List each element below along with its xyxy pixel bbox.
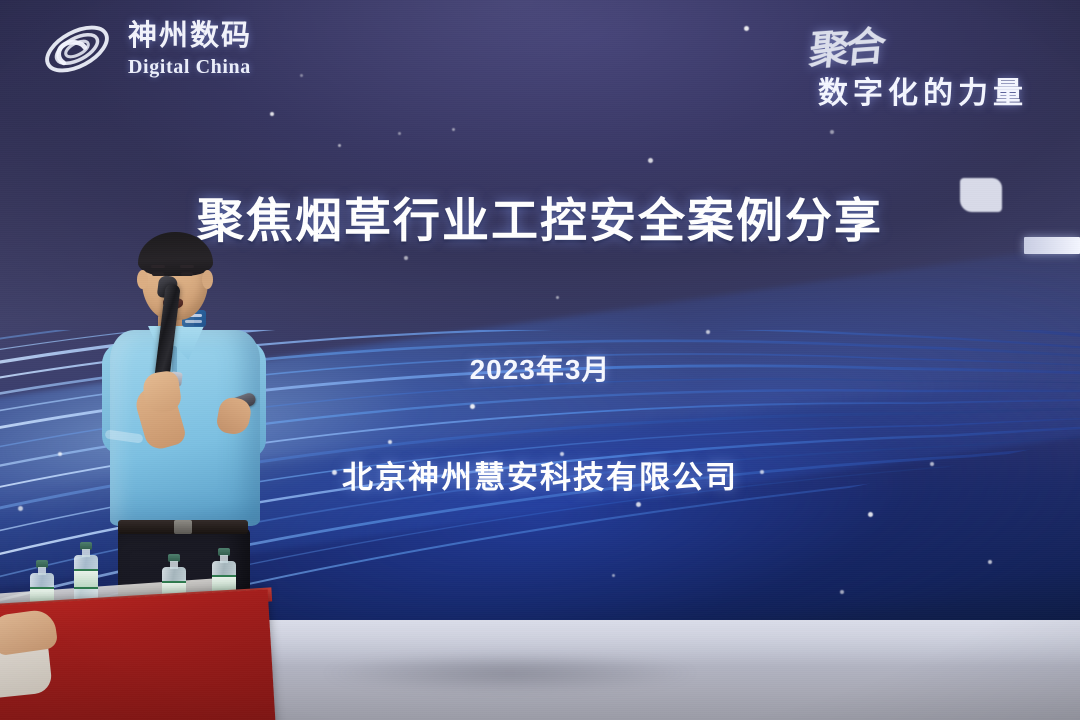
- speaker-belt-buckle: [174, 520, 192, 534]
- logo-chinese-name: 神州数码: [128, 22, 252, 51]
- particle-dot: [452, 128, 455, 131]
- water-bottle: [74, 542, 98, 604]
- speaker-eyebrow-right: [180, 265, 194, 268]
- particle-dot: [300, 74, 303, 77]
- particle-dot: [556, 296, 559, 299]
- speaker-hair: [138, 232, 213, 276]
- speaker-ear-left: [137, 270, 148, 289]
- speaker-ear-right: [202, 270, 213, 289]
- particle-dot: [830, 130, 834, 134]
- logo-english-name: Digital China: [128, 57, 252, 77]
- floor-shadow: [250, 650, 770, 696]
- particle-dot: [270, 112, 274, 116]
- particle-dot: [744, 26, 749, 31]
- speaker-eye-right: [181, 272, 193, 276]
- particle-dot: [404, 256, 408, 260]
- particle-dot: [398, 132, 401, 135]
- digital-china-logo: 神州数码 Digital China: [38, 18, 252, 80]
- brush-calligraphy-mark: 聚合: [807, 14, 885, 77]
- speaker-eyebrow-left: [151, 265, 165, 268]
- digital-china-wordmark: 神州数码 Digital China: [128, 22, 252, 77]
- conference-photo: 神州数码 Digital China 聚合 数字化的力量 聚焦烟草行业工控安全案…: [0, 0, 1080, 720]
- particle-dot: [648, 158, 653, 163]
- event-brand-logo: 聚合 数字化的力量: [788, 16, 1056, 112]
- brand-subtitle: 数字化的力量: [818, 68, 1028, 112]
- digital-china-swirl-icon: [38, 18, 116, 80]
- bottle-label: [74, 569, 98, 589]
- particle-dot: [338, 144, 341, 147]
